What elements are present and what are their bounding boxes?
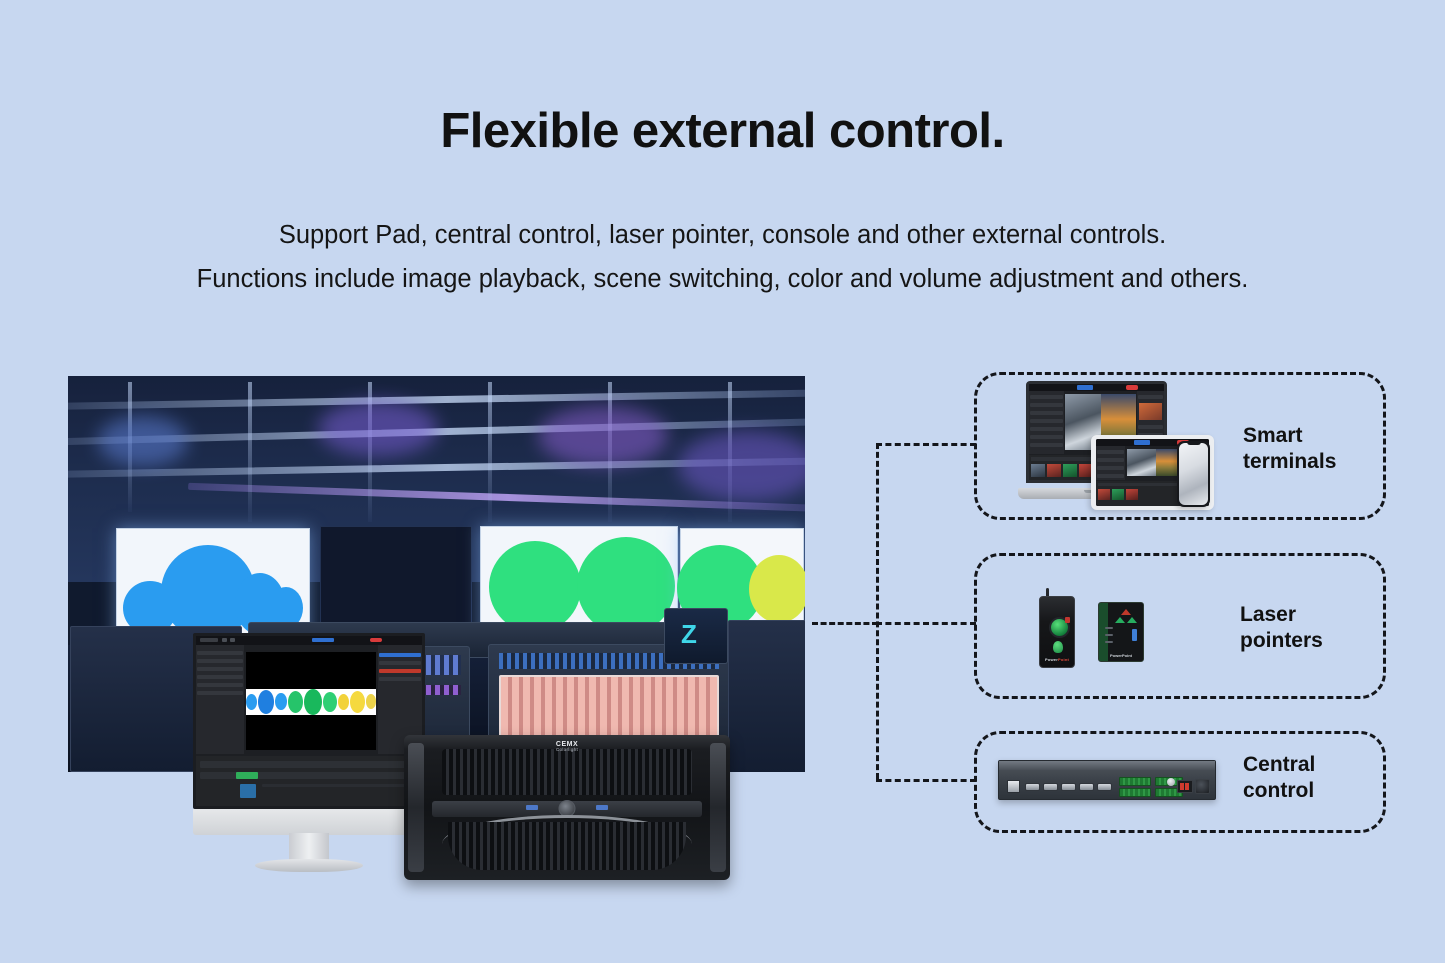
power-connector[interactable]	[1195, 779, 1210, 794]
server-brand-logo: CEMX Colorlight	[556, 741, 578, 753]
monitor-stand-foot	[255, 859, 363, 872]
timeline-thumbnail[interactable]	[240, 784, 256, 798]
laser-pointer-black: PowerPoint	[1039, 588, 1075, 668]
arrow-icon	[1127, 617, 1137, 623]
server-vent-top	[442, 749, 692, 795]
phone-notch	[1187, 441, 1201, 445]
terminal-block[interactable]	[1119, 777, 1151, 786]
monitor-bezel	[193, 809, 425, 835]
indicator-led	[1105, 641, 1113, 643]
rj45-port[interactable]	[1007, 780, 1020, 793]
stage-photo-panel: Z	[68, 376, 805, 772]
smartphone-device	[1177, 441, 1210, 507]
card-label-central-control: Central control	[1243, 752, 1315, 804]
app-preview-canvas	[246, 652, 376, 750]
connector-from-tv	[812, 622, 878, 625]
truss-upright	[248, 382, 252, 522]
central-control-unit	[998, 760, 1216, 800]
indicator-led	[1105, 627, 1113, 629]
pointer-brand-text: PowerPoint	[1099, 653, 1143, 658]
connector-port[interactable]	[1097, 783, 1112, 791]
stage-light	[538, 406, 668, 466]
blue-button[interactable]	[1132, 629, 1137, 641]
screen-logo-panel: Z	[664, 608, 728, 664]
connector-port[interactable]	[1079, 783, 1094, 791]
stage-light	[318, 401, 438, 456]
card-label-smart-terminals: Smart terminals	[1243, 423, 1336, 475]
page-title: Flexible external control.	[0, 103, 1445, 159]
label-line1: Laser	[1240, 602, 1323, 628]
connector-port[interactable]	[1061, 783, 1076, 791]
pointer-body: PowerPoint	[1039, 596, 1075, 668]
app-titlebar	[196, 636, 422, 645]
preview-circle	[246, 694, 257, 710]
pointer-body: PowerPoint	[1098, 602, 1144, 662]
connector-port[interactable]	[1043, 783, 1058, 791]
pointer-brand-text: PowerPoint	[1040, 657, 1074, 662]
label-line1: Central	[1243, 752, 1315, 778]
preview-circle	[258, 690, 274, 714]
arrow-icon	[1115, 617, 1125, 623]
preview-circle	[288, 691, 303, 713]
connector-trunk	[876, 443, 879, 779]
graphic-blob	[749, 555, 805, 623]
connector-branch-laser-pointers	[876, 622, 976, 625]
usb-port-right[interactable]	[596, 805, 608, 810]
video-editor-app	[196, 636, 422, 806]
indicator-led	[1105, 634, 1113, 636]
server-logo-line2: Colorlight	[556, 748, 578, 753]
usb-port-left[interactable]	[526, 805, 538, 810]
page-subtitle: Support Pad, central control, laser poin…	[0, 213, 1445, 301]
timeline-clip[interactable]	[236, 772, 258, 779]
flight-case	[728, 620, 805, 772]
led-display	[1177, 780, 1193, 793]
graphic-blob	[577, 537, 675, 635]
arrow-icon	[1121, 609, 1131, 615]
monitor-screen	[193, 633, 425, 809]
editor-source-list[interactable]	[1029, 391, 1064, 454]
laser-button[interactable]	[1065, 617, 1070, 623]
desktop-monitor	[193, 633, 425, 865]
server-vent-bottom	[448, 822, 686, 870]
stage-light	[98, 416, 188, 466]
action-button[interactable]	[1053, 641, 1063, 653]
card-laser-pointers[interactable]	[974, 553, 1386, 699]
preview-circle	[366, 694, 376, 709]
graphic-blob	[489, 541, 581, 633]
label-line2: pointers	[1240, 628, 1323, 654]
card-label-laser-pointers: Laser pointers	[1240, 602, 1323, 654]
server-chassis: CEMX Colorlight	[404, 735, 730, 880]
poster-canvas: Flexible external control. Support Pad, …	[0, 0, 1445, 963]
preview-circle	[323, 692, 337, 712]
rack-ear-left	[408, 743, 424, 872]
preview-circle	[338, 694, 349, 710]
preview-image-mountain	[1127, 449, 1156, 476]
phone-screen	[1179, 443, 1208, 505]
preview-circle	[304, 689, 322, 715]
editor-titlebar	[1029, 384, 1164, 391]
rack-ear-right	[710, 743, 726, 872]
connector-port[interactable]	[1025, 783, 1040, 791]
connector-branch-central-control	[876, 779, 976, 782]
editor-source-list[interactable]	[1096, 446, 1125, 480]
preview-circle	[275, 693, 287, 710]
connector-branch-smart-terminals	[876, 443, 976, 446]
app-timeline[interactable]	[196, 756, 422, 806]
subtitle-line-2: Functions include image playback, scene …	[0, 257, 1445, 301]
preview-circle	[350, 691, 365, 713]
stage-light	[678, 431, 805, 501]
laser-pointer-green: PowerPoint	[1098, 602, 1144, 662]
media-server-device: CEMX Colorlight	[404, 735, 730, 880]
app-source-panel[interactable]	[196, 645, 244, 754]
concert-stage-photo: Z	[68, 376, 805, 772]
label-line2: control	[1243, 778, 1315, 804]
preview-content	[246, 689, 376, 714]
label-line2: terminals	[1243, 449, 1336, 475]
status-indicator	[1167, 778, 1175, 786]
truss-upright	[488, 382, 492, 522]
rack-top-face	[999, 761, 1215, 770]
terminal-block[interactable]	[1119, 788, 1151, 797]
label-line1: Smart	[1243, 423, 1336, 449]
subtitle-line-1: Support Pad, central control, laser poin…	[0, 213, 1445, 257]
